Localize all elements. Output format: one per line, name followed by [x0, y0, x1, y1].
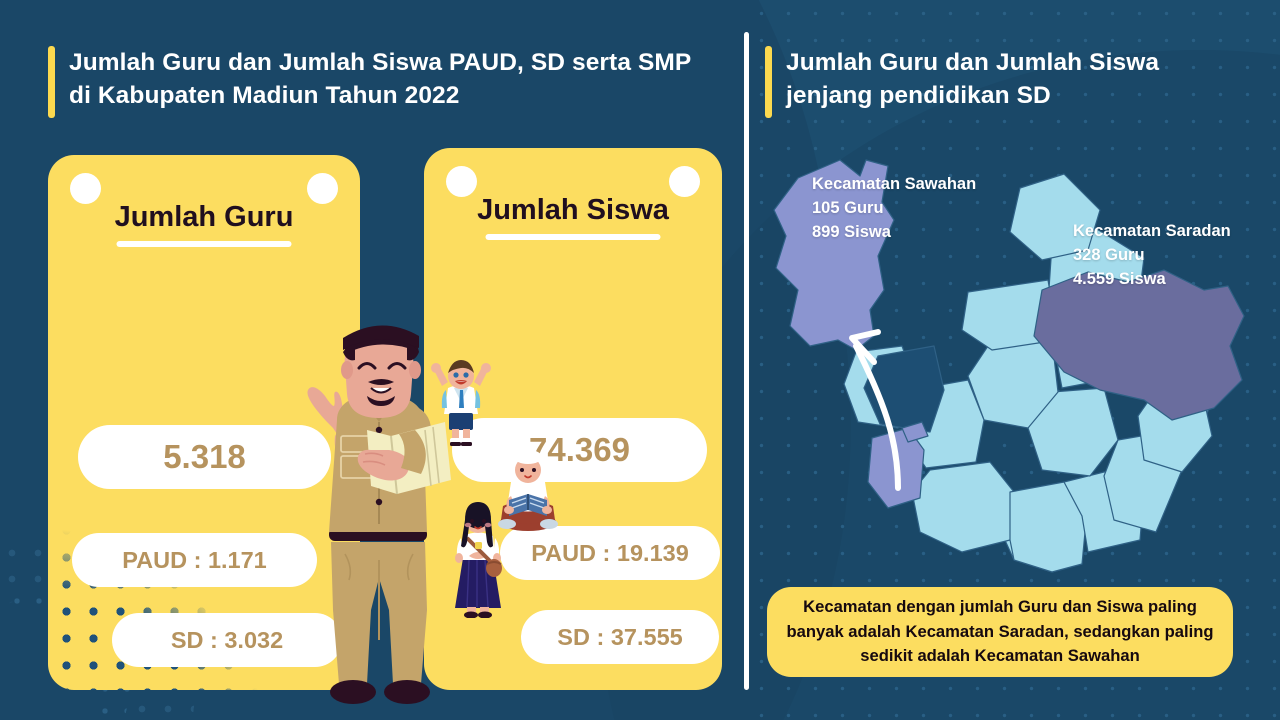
map-label-sawahan-guru: 105 Guru — [812, 196, 976, 220]
right-panel-title: Jumlah Guru dan Jumlah Siswa jenjang pen… — [765, 46, 1235, 118]
map-label-sawahan: Kecamatan Sawahan 105 Guru 899 Siswa — [812, 172, 976, 244]
map-label-saradan-siswa: 4.559 Siswa — [1073, 267, 1231, 291]
card-heading: Jumlah Siswa — [424, 194, 722, 227]
punch-hole-right-icon — [669, 166, 700, 197]
map-region-geger — [912, 462, 1014, 552]
card-underline — [486, 234, 661, 240]
panel-divider — [744, 32, 749, 690]
left-title-text: Jumlah Guru dan Jumlah Siswa PAUD, SD se… — [69, 46, 708, 112]
student-paud-illustration — [430, 358, 492, 448]
title-accent-bar — [765, 46, 772, 118]
map-label-sawahan-siswa: 899 Siswa — [812, 220, 976, 244]
punch-hole-right-icon — [307, 173, 338, 204]
summary-caption: Kecamatan dengan jumlah Guru dan Siswa p… — [767, 587, 1233, 677]
right-title-text: Jumlah Guru dan Jumlah Siswa jenjang pen… — [786, 46, 1235, 112]
map-label-sawahan-name: Kecamatan Sawahan — [812, 172, 976, 196]
infographic-canvas: Jumlah Guru dan Jumlah Siswa PAUD, SD se… — [0, 0, 1280, 720]
map-label-saradan-name: Kecamatan Saradan — [1073, 219, 1231, 243]
card-underline — [117, 241, 292, 247]
card-heading: Jumlah Guru — [48, 201, 360, 234]
student-smp-illustration — [447, 500, 509, 618]
siswa-paud-row: PAUD : 19.139 — [500, 526, 720, 580]
left-panel-title: Jumlah Guru dan Jumlah Siswa PAUD, SD se… — [48, 46, 708, 118]
punch-hole-left-icon — [70, 173, 101, 204]
map-label-saradan: Kecamatan Saradan 328 Guru 4.559 Siswa — [1073, 219, 1231, 291]
siswa-sd-row: SD : 37.555 — [521, 610, 719, 664]
title-accent-bar — [48, 46, 55, 118]
map-label-saradan-guru: 328 Guru — [1073, 243, 1231, 267]
punch-hole-left-icon — [446, 166, 477, 197]
